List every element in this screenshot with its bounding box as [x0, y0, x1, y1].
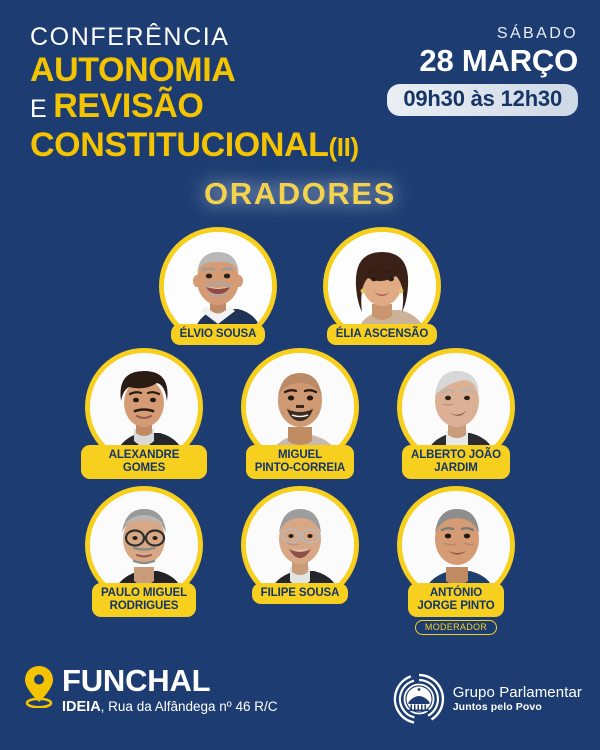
brand-tagline: Juntos pelo Povo [453, 701, 582, 714]
speaker-card[interactable]: ÉLVIO SOUSA [155, 232, 281, 345]
speaker-name-wrap: PAULO MIGUEL RODRIGUES [81, 583, 207, 617]
speaker-name-badge: ALBERTO JOÃO JARDIM [402, 445, 510, 479]
brand-name: Grupo Parlamentar [453, 684, 582, 701]
speakers-row-3: PAULO MIGUEL RODRIGUES [0, 491, 600, 635]
moderator-badge: MODERADOR [415, 620, 497, 635]
event-title-line-3: CONSTITUCIONAL (II) [30, 127, 359, 165]
event-title-constitucional: CONSTITUCIONAL [30, 127, 329, 163]
poster-header: CONFERÊNCIA AUTONOMIA E REVISÃO CONSTITU… [0, 0, 600, 165]
event-title-line-1: AUTONOMIA [30, 52, 359, 88]
venue-name: IDEIA [62, 699, 101, 715]
event-title-conjunction: E [30, 91, 47, 127]
speakers-row-2: ALEXANDRE GOMES [0, 353, 600, 479]
speaker-name-wrap: ALBERTO JOÃO JARDIM [393, 445, 519, 479]
speakers-row-1: ÉLVIO SOUSA [0, 232, 600, 345]
speaker-name-wrap: MIGUEL PINTO-CORREIA [237, 445, 363, 479]
event-date: 28 MARÇO [363, 43, 578, 78]
speaker-name-badge: ÉLIA ASCENSÃO [327, 324, 437, 345]
speaker-name-badge: ÉLVIO SOUSA [171, 324, 266, 345]
speaker-card[interactable]: ÉLIA ASCENSÃO [319, 232, 445, 345]
brand-block: Grupo Parlamentar Juntos pelo Povo [392, 672, 582, 726]
location-pin-icon [22, 664, 56, 708]
speaker-name-wrap: ÉLVIO SOUSA [155, 324, 281, 345]
speaker-card[interactable]: FILIPE SOUSA [237, 491, 363, 635]
speaker-card[interactable]: ALEXANDRE GOMES [81, 353, 207, 479]
speaker-name-badge: PAULO MIGUEL RODRIGUES [92, 583, 196, 617]
location-block: FUNCHAL IDEIA, Rua da Alfândega nº 46 R/… [22, 664, 277, 716]
location-address: IDEIA, Rua da Alfândega nº 46 R/C [62, 698, 277, 716]
event-weekday: SÁBADO [363, 24, 578, 43]
poster-footer: FUNCHAL IDEIA, Rua da Alfândega nº 46 R/… [0, 664, 600, 734]
speaker-name-wrap: ALEXANDRE GOMES [81, 445, 207, 479]
address-text: , Rua da Alfândega nº 46 R/C [101, 699, 278, 714]
location-city: FUNCHAL [62, 664, 277, 697]
speaker-name-wrap: ANTÓNIO JORGE PINTO MODERADOR [393, 583, 519, 635]
brand-text: Grupo Parlamentar Juntos pelo Povo [453, 684, 582, 714]
speaker-name-wrap: ÉLIA ASCENSÃO [319, 324, 445, 345]
speaker-card[interactable]: PAULO MIGUEL RODRIGUES [81, 491, 207, 635]
speaker-name-badge: MIGUEL PINTO-CORREIA [246, 445, 355, 479]
event-date-block: SÁBADO 28 MARÇO 09h30 às 12h30 [363, 24, 578, 116]
speaker-card[interactable]: MIGUEL PINTO-CORREIA [237, 353, 363, 479]
event-title-block: CONFERÊNCIA AUTONOMIA E REVISÃO CONSTITU… [30, 22, 359, 165]
grupo-parlamentar-logo-icon [392, 672, 446, 726]
speaker-name-badge: ALEXANDRE GOMES [81, 445, 207, 479]
event-title-suffix: (II) [329, 129, 359, 165]
event-title-line-2: E REVISÃO [30, 88, 359, 127]
speaker-card[interactable]: ALBERTO JOÃO JARDIM [393, 353, 519, 479]
speaker-name-badge: ANTÓNIO JORGE PINTO [408, 583, 503, 617]
location-text: FUNCHAL IDEIA, Rua da Alfândega nº 46 R/… [62, 664, 277, 716]
speaker-name-badge: FILIPE SOUSA [252, 583, 349, 604]
speaker-name-wrap: FILIPE SOUSA [237, 583, 363, 604]
speaker-card[interactable]: ANTÓNIO JORGE PINTO MODERADOR [393, 491, 519, 635]
event-title-revisao: REVISÃO [53, 88, 203, 124]
event-title-autonomia: AUTONOMIA [30, 52, 235, 88]
event-time-badge: 09h30 às 12h30 [387, 84, 578, 116]
speakers-heading-wrap: ORADORES [0, 176, 600, 212]
event-kicker: CONFERÊNCIA [30, 22, 359, 52]
speakers-grid: ÉLVIO SOUSA [0, 232, 600, 635]
speakers-heading: ORADORES [204, 176, 396, 212]
